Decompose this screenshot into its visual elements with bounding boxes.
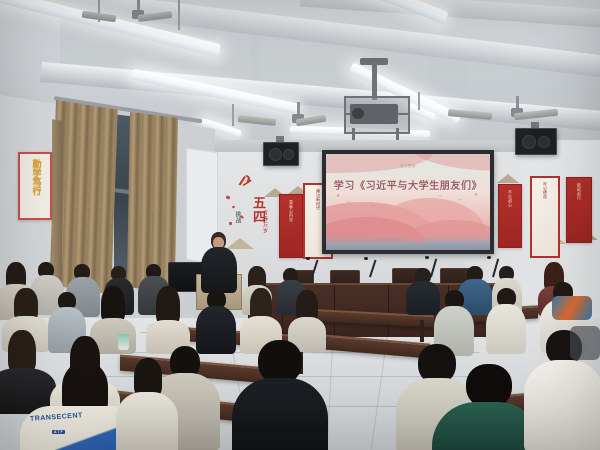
bird-icon: ﹀ xyxy=(438,194,443,201)
panel-text: 建功新时代 xyxy=(315,189,321,211)
projection-screen[interactable]: 学习贯彻 学习《习近平与大学生朋友们》 ﹀ ﹀ ﹀ ﹀ ★ ★ xyxy=(326,154,490,250)
star-icon: ★ xyxy=(474,192,478,198)
microphone-head xyxy=(306,257,310,260)
slide-subtitle: 学习贯彻 xyxy=(326,163,490,168)
ceiling-fan xyxy=(268,102,328,126)
decor-secondary-text: 挑战 xyxy=(233,211,242,223)
wall-panel-red: 不忘初心 xyxy=(498,184,522,248)
scroll-text: 勤学笃行 xyxy=(30,159,41,195)
mountain-shape xyxy=(497,174,519,183)
wall-speaker-left xyxy=(263,142,299,166)
ceiling-fan xyxy=(482,96,552,122)
microphone-head xyxy=(364,257,368,260)
jacket-graphic xyxy=(556,302,600,362)
microphone-head xyxy=(425,256,429,259)
audience-member-foreground xyxy=(232,340,328,450)
bird-icon: ﹀ xyxy=(457,198,462,205)
decor-headline-sub: 青春万岁 xyxy=(262,210,269,234)
wall-panel-red: 青春心向党 xyxy=(279,194,303,258)
wall-panel-red: 砥砺前行 xyxy=(566,177,592,243)
light-stem xyxy=(232,104,234,126)
presenter xyxy=(198,232,238,292)
party-emblem-icon xyxy=(236,173,254,189)
calligraphy-scroll: 勤学笃行 xyxy=(18,152,52,220)
projection-screen-frame: 学习贯彻 学习《习近平与大学生朋友们》 ﹀ ﹀ ﹀ ﹀ ★ ★ xyxy=(322,150,494,254)
bird-icon: ﹀ xyxy=(346,200,351,207)
projector-lens-icon xyxy=(352,108,364,119)
bird-icon: ﹀ xyxy=(370,204,375,211)
wall-speaker-right xyxy=(515,128,557,155)
drink-cup xyxy=(118,334,129,350)
audience-member xyxy=(146,286,188,352)
slide-title: 学习《习近平与大学生朋友们》 xyxy=(326,177,490,192)
light-stem xyxy=(178,0,180,30)
audience-member xyxy=(118,358,174,450)
decor-fleck xyxy=(229,222,232,225)
projector-rod xyxy=(372,62,377,100)
lecture-hall-photo: 勤学笃行 挑战 五四 青春万岁 青春心向党 建功新时代 不忘初心 牢记使命 砥 xyxy=(0,0,600,450)
star-icon: ★ xyxy=(336,193,340,199)
desk-leg xyxy=(420,320,424,342)
jacket-logo-sub: A T F xyxy=(52,430,65,434)
light-stem xyxy=(418,92,420,110)
panel-text: 牢记使命 xyxy=(542,182,548,199)
audience-member xyxy=(196,290,236,352)
wall-panel-white: 牢记使命 xyxy=(530,176,560,258)
panel-text: 不忘初心 xyxy=(507,190,513,208)
audience-member xyxy=(486,288,526,352)
microphone-head xyxy=(487,256,491,259)
panel-text: 青春心向党 xyxy=(288,200,294,222)
panel-text: 砥砺前行 xyxy=(576,183,582,201)
ceiling-fan xyxy=(108,0,168,22)
